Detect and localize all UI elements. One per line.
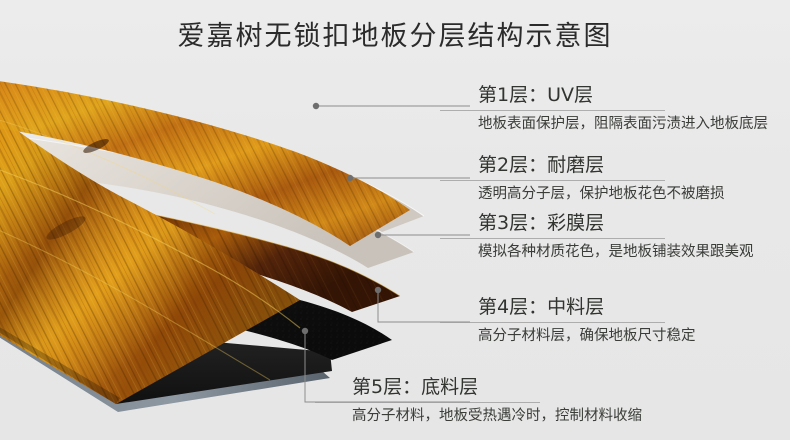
callout-layer-3: 第3层：彩膜层 模拟各种材质花色，是地板铺装效果跟美观 [478,212,754,262]
leader-dot-layer-2 [347,175,353,181]
callout-layer-5: 第5层：底料层 高分子材料，地板受热遇冷时，控制材料收缩 [352,376,642,426]
layer-3-heading: 第3层：彩膜层 [478,212,604,238]
leader-dot-layer-5 [302,328,308,334]
layer-5-heading: 第5层：底料层 [352,376,478,402]
layer-1-heading: 第1层：UV层 [478,84,593,110]
layer-4-heading: 第4层：中料层 [478,296,604,322]
diagram-canvas: 爱嘉树无锁扣地板分层结构示意图 [0,0,790,440]
leader-dot-layer-3 [375,232,381,238]
leader-dot-layer-4 [375,287,381,293]
layer-1-description: 地板表面保护层，阻隔表面污渍进入地板底层 [478,115,768,134]
layer-3-description: 模拟各种材质花色，是地板铺装效果跟美观 [478,243,754,262]
layer-2-heading: 第2层：耐磨层 [478,154,604,180]
callout-layer-4: 第4层：中料层 高分子材料层，确保地板尺寸稳定 [478,296,696,346]
layer-5-description: 高分子材料，地板受热遇冷时，控制材料收缩 [352,407,642,426]
layer-2-description: 透明高分子层，保护地板花色不被磨损 [478,185,725,204]
floor-layer-illustration [0,0,470,440]
leader-dot-layer-1 [313,103,319,109]
callout-layer-1: 第1层：UV层 地板表面保护层，阻隔表面污渍进入地板底层 [478,84,768,134]
layer-4-description: 高分子材料层，确保地板尺寸稳定 [478,327,696,346]
callout-layer-2: 第2层：耐磨层 透明高分子层，保护地板花色不被磨损 [478,154,725,204]
